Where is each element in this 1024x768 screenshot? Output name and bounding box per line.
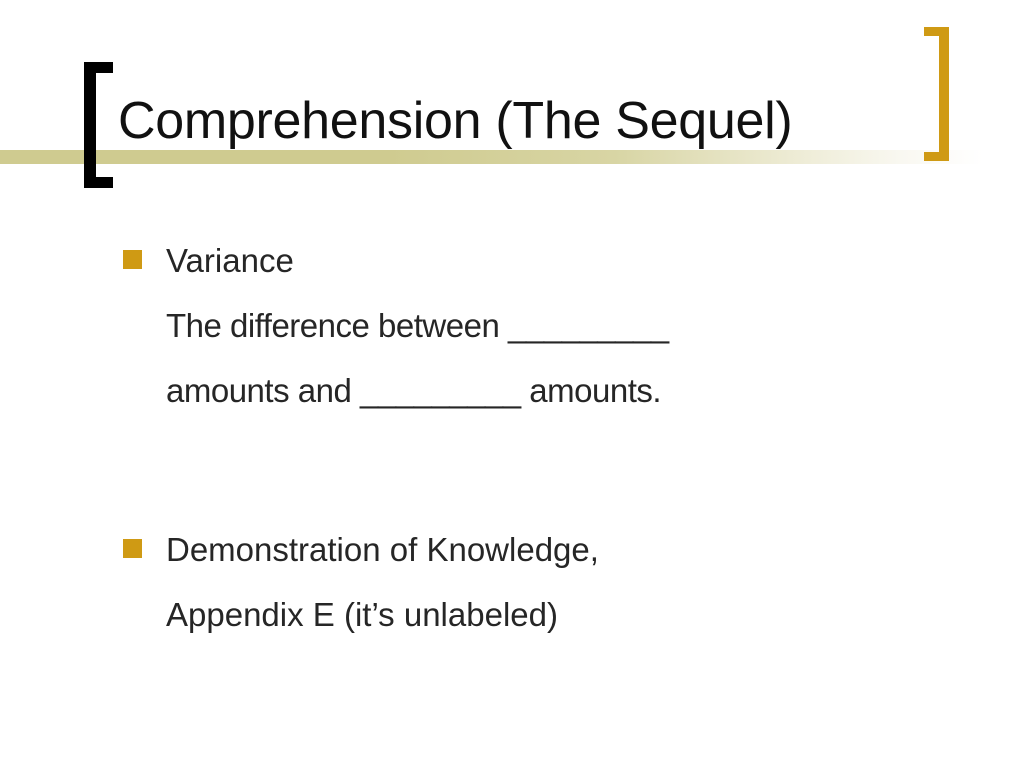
title-accent-bar (0, 150, 1024, 164)
slide-canvas: Comprehension (The Sequel) Variance The … (0, 0, 1024, 768)
bullet-line: Variance (166, 228, 1024, 293)
slide-body: Variance The difference between ________… (0, 228, 1024, 647)
page-title: Comprehension (The Sequel) (118, 93, 792, 149)
bullet-line: The difference between _________ (166, 293, 1024, 358)
square-bullet-icon (123, 539, 142, 558)
bullet-text-group: Demonstration of Knowledge, Appendix E (… (166, 517, 1024, 647)
left-bracket-decoration (84, 62, 113, 188)
bullet-line: Appendix E (it’s unlabeled) (166, 582, 1024, 647)
list-item: Variance The difference between ________… (0, 228, 1024, 423)
bullet-line: Demonstration of Knowledge, (166, 517, 1024, 582)
bullet-line: amounts and _________ amounts. (166, 358, 1024, 423)
bullet-text-group: Variance The difference between ________… (166, 228, 1024, 423)
right-bracket-decoration (924, 27, 949, 161)
square-bullet-icon (123, 250, 142, 269)
list-item: Demonstration of Knowledge, Appendix E (… (0, 517, 1024, 647)
slide-title-area: Comprehension (The Sequel) (0, 0, 1024, 200)
